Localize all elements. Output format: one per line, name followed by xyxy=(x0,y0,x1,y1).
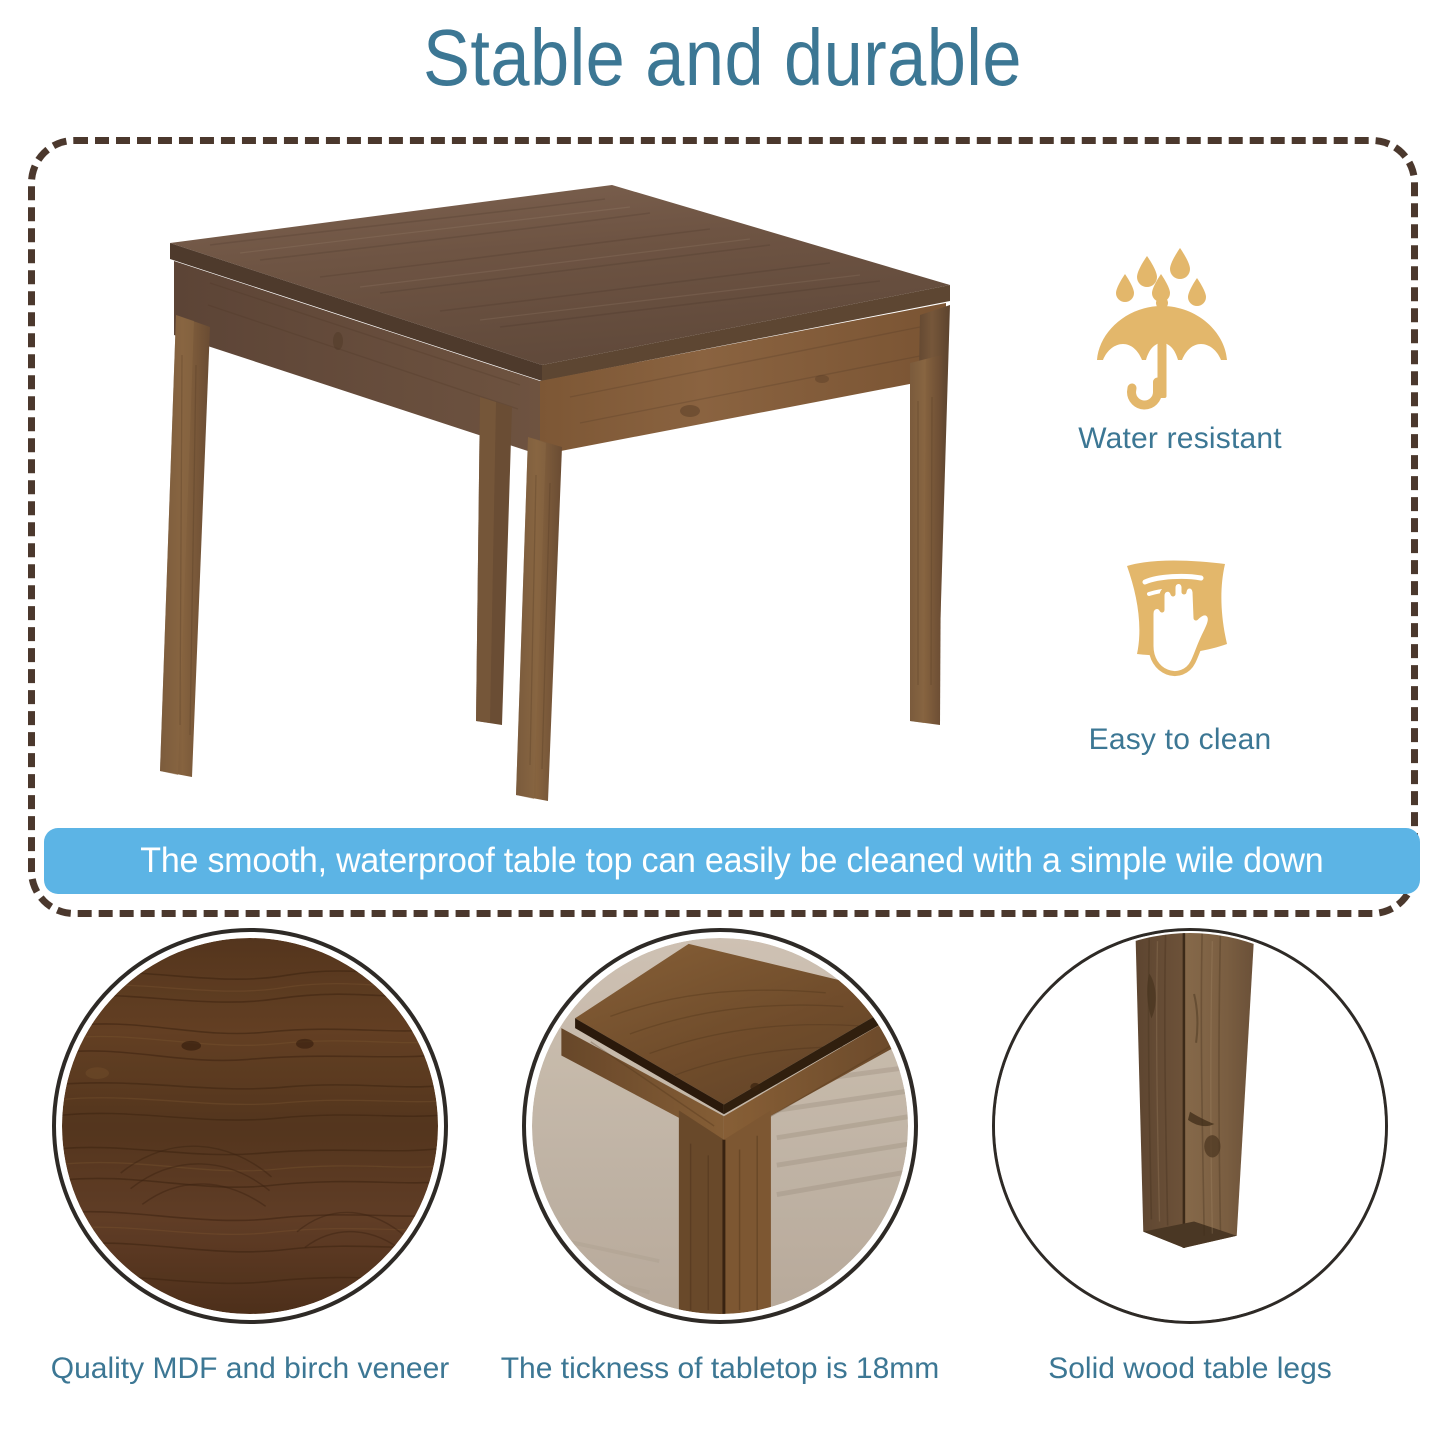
product-table-image xyxy=(150,165,980,805)
detail-circle-wood-grain xyxy=(52,928,448,1324)
product-infographic: Stable and durable xyxy=(0,0,1445,1445)
feature-water-resistant: Water resistant xyxy=(1020,222,1340,456)
detail-circle-table-leg xyxy=(992,928,1388,1324)
page-title: Stable and durable xyxy=(87,18,1359,98)
caption-table-leg: Solid wood table legs xyxy=(970,1352,1410,1386)
caption-wood-grain: Quality MDF and birch veneer xyxy=(30,1352,470,1386)
circle-image-table-leg xyxy=(995,931,1385,1321)
highlight-banner: The smooth, waterproof table top can eas… xyxy=(44,828,1420,894)
caption-corner-joint: The tickness of tabletop is 18mm xyxy=(500,1352,940,1386)
circle-ring xyxy=(992,928,1388,1324)
circle-image-wood-grain xyxy=(62,938,438,1314)
detail-circles-row xyxy=(0,928,1445,1328)
hand-wipe-cloth-icon xyxy=(1020,548,1340,713)
circle-image-corner-joint xyxy=(532,938,908,1314)
umbrella-rain-icon xyxy=(1020,222,1340,412)
feature-label-easy-to-clean: Easy to clean xyxy=(1020,723,1340,757)
feature-label-water-resistant: Water resistant xyxy=(1020,422,1340,456)
detail-circle-corner-joint xyxy=(522,928,918,1324)
circle-ring xyxy=(52,928,448,1324)
circle-ring xyxy=(522,928,918,1324)
feature-easy-to-clean: Easy to clean xyxy=(1020,548,1340,757)
highlight-banner-text: The smooth, waterproof table top can eas… xyxy=(140,841,1323,881)
detail-captions-row: Quality MDF and birch veneer The ticknes… xyxy=(0,1352,1445,1412)
